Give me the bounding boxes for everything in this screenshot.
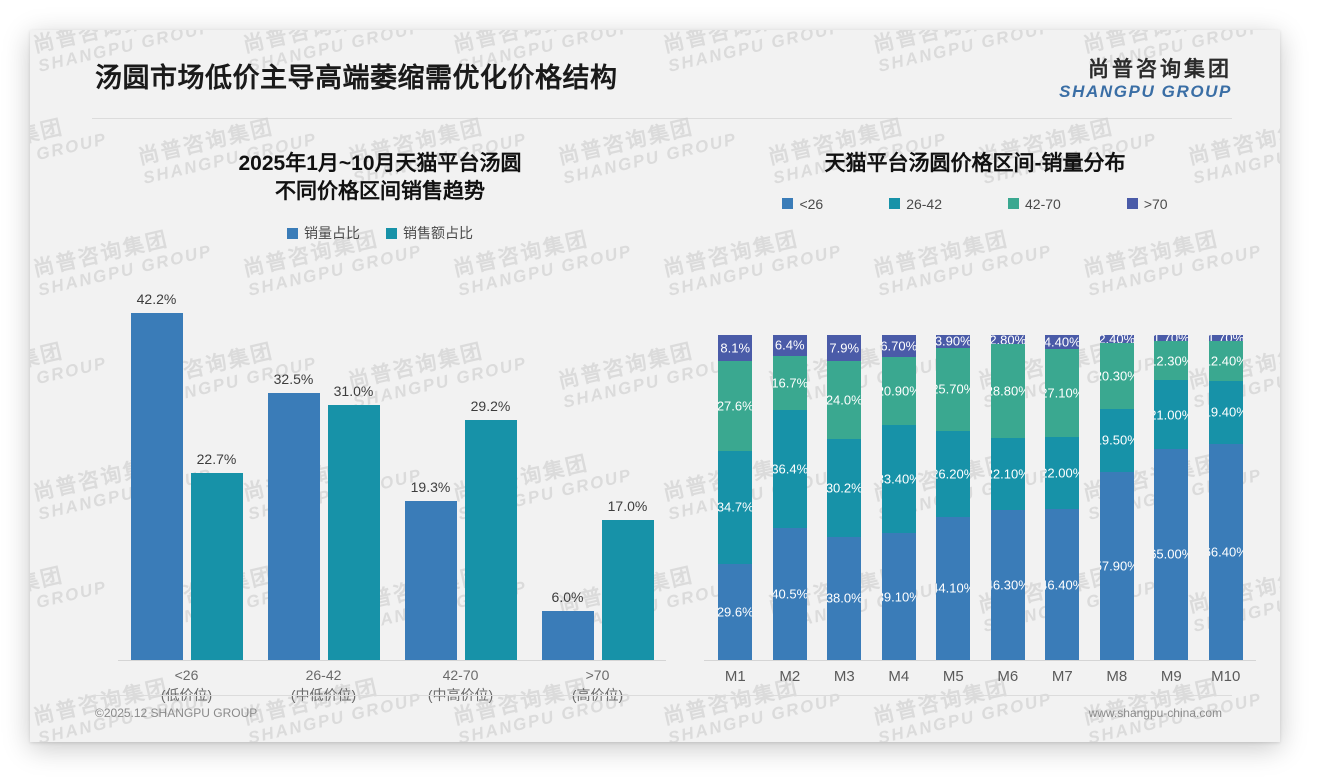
right-chart-column: 6.70%20.90%33.40%39.10% (872, 335, 927, 660)
left-chart-bar[interactable] (602, 520, 654, 660)
segment-label-clip: 44.10% (936, 517, 970, 660)
right-chart-value-label: 8.1% (720, 341, 750, 356)
right-chart-column: 7.9%24.0%30.2%38.0% (817, 335, 872, 660)
left-chart-category-label: >70(高价位) (529, 665, 666, 706)
right-chart-segment[interactable]: 38.0% (827, 537, 861, 660)
left-chart-group: 6.0%17.0% (529, 290, 666, 660)
right-chart-stack[interactable]: 2.80%28.80%22.10%46.30% (991, 335, 1025, 660)
right-chart-segment[interactable]: 19.40% (1209, 381, 1243, 444)
left-chart-title: 2025年1月~10月天猫平台汤圆 不同价格区间销售趋势 (70, 150, 690, 205)
right-chart-segment[interactable]: 2.80% (991, 335, 1025, 344)
segment-label-clip: 22.10% (991, 438, 1025, 510)
segment-label-clip: 24.0% (827, 361, 861, 439)
legend-swatch-icon (889, 198, 900, 209)
right-chart-segment[interactable]: 7.9% (827, 335, 861, 361)
right-chart-value-label: 28.80% (991, 383, 1025, 398)
page-title: 汤圆市场低价主导高端萎缩需优化价格结构 (95, 56, 618, 95)
left-chart-bar-wrapper: 19.3% (405, 290, 457, 660)
right-chart-segment[interactable]: 66.40% (1209, 444, 1243, 660)
category-range: 26-42 (306, 667, 342, 683)
right-chart-stack[interactable]: 1.70%12.30%21.00%65.00% (1154, 335, 1188, 660)
left-chart-category-label: 26-42(中低价位) (255, 665, 392, 706)
left-chart-x-axis-line (118, 660, 666, 661)
right-chart-value-label: 30.2% (827, 480, 861, 495)
segment-label-clip: 12.30% (1154, 341, 1188, 381)
segment-label-clip: 46.40% (1045, 509, 1079, 660)
right-chart-segment[interactable]: 65.00% (1154, 449, 1188, 660)
category-range: >70 (586, 667, 610, 683)
legend-swatch-icon (1127, 198, 1138, 209)
legend-label: 42-70 (1025, 196, 1061, 212)
left-chart-value-label: 6.0% (552, 589, 584, 605)
header-divider (92, 118, 1232, 119)
left-chart-value-label: 31.0% (334, 383, 374, 399)
right-chart-stack[interactable]: 7.9%24.0%30.2%38.0% (827, 335, 861, 660)
left-chart-bar-wrapper: 22.7% (191, 290, 243, 660)
right-chart-segment[interactable]: 26.20% (936, 431, 970, 516)
right-chart-segment[interactable]: 44.10% (936, 517, 970, 660)
right-chart-legend-item[interactable]: 42-70 (1008, 196, 1061, 212)
right-chart-legend-item[interactable]: 26-42 (889, 196, 942, 212)
segment-label-clip: 36.4% (773, 410, 807, 528)
right-chart-segment[interactable]: 40.5% (773, 528, 807, 660)
left-chart-bar-wrapper: 6.0% (542, 290, 594, 660)
right-chart-segment[interactable]: 30.2% (827, 439, 861, 537)
right-chart-category-label: M3 (817, 668, 872, 685)
right-chart-value-label: 25.70% (936, 382, 970, 397)
right-chart-segment[interactable]: 6.70% (882, 335, 916, 357)
segment-label-clip: 46.30% (991, 510, 1025, 660)
right-chart-column: 3.90%25.70%26.20%44.10% (926, 335, 981, 660)
right-chart-value-label: 33.40% (882, 471, 916, 486)
segment-label-clip: 21.00% (1154, 380, 1188, 448)
right-chart-stack[interactable]: 6.70%20.90%33.40%39.10% (882, 335, 916, 660)
segment-label-clip: 38.0% (827, 537, 861, 660)
footer-website: www.shangpu-china.com (1089, 706, 1222, 720)
right-chart-segment[interactable]: 28.80% (991, 344, 1025, 438)
left-chart-legend-item[interactable]: 销量占比 (287, 223, 360, 243)
right-chart-column: 6.4%16.7%36.4%40.5% (763, 335, 818, 660)
slide-header: 汤圆市场低价主导高端萎缩需优化价格结构 尚普咨询集团 SHANGPU GROUP (30, 30, 1280, 118)
right-chart-segment[interactable]: 27.6% (718, 361, 752, 451)
right-chart-value-label: 29.6% (718, 604, 752, 619)
right-chart-value-label: 27.10% (1045, 386, 1079, 401)
right-chart-segment[interactable]: 39.10% (882, 533, 916, 660)
left-chart-bar-wrapper: 42.2% (131, 290, 183, 660)
right-chart-column: 2.80%28.80%22.10%46.30% (981, 335, 1036, 660)
segment-label-clip: 30.2% (827, 439, 861, 537)
right-chart-category-label: M4 (872, 668, 927, 685)
right-chart-column: 8.1%27.6%34.7%29.6% (708, 335, 763, 660)
segment-label-clip: 39.10% (882, 533, 916, 660)
right-chart-segment[interactable]: 19.50% (1100, 409, 1134, 472)
right-chart-category-label: M1 (708, 668, 763, 685)
legend-label: <26 (799, 196, 823, 212)
segment-label-clip: 4.40% (1045, 335, 1079, 349)
segment-label-clip: 27.10% (1045, 349, 1079, 437)
right-chart-segment[interactable]: 34.7% (718, 451, 752, 564)
left-chart-bar[interactable] (465, 420, 517, 660)
segment-label-clip: 22.00% (1045, 437, 1079, 509)
left-chart-bar[interactable] (405, 501, 457, 660)
segment-label-clip: 20.30% (1100, 343, 1134, 409)
right-chart-value-label: 44.10% (936, 581, 970, 596)
right-chart-segment[interactable]: 2.40% (1100, 335, 1134, 343)
right-chart-plot-area: 8.1%27.6%34.7%29.6%6.4%16.7%36.4%40.5%7.… (708, 335, 1253, 660)
right-chart-column: 2.40%20.30%19.50%57.90% (1090, 335, 1145, 660)
right-chart-legend-item[interactable]: <26 (782, 196, 823, 212)
legend-label: >70 (1144, 196, 1168, 212)
right-chart-value-label: 7.9% (829, 340, 859, 355)
right-chart-value-label: 6.70% (882, 338, 916, 353)
segment-label-clip: 26.20% (936, 431, 970, 516)
legend-swatch-icon (386, 228, 397, 239)
right-chart-stack[interactable]: 6.4%16.7%36.4%40.5% (773, 335, 807, 660)
left-chart-bar-wrapper: 31.0% (328, 290, 380, 660)
left-chart-bar-wrapper: 17.0% (602, 290, 654, 660)
right-chart-value-label: 4.40% (1045, 335, 1079, 349)
segment-label-clip: 2.40% (1100, 335, 1134, 343)
right-chart-value-label: 24.0% (827, 392, 861, 407)
left-chart-bar[interactable] (131, 313, 183, 660)
right-chart-segment[interactable]: 25.70% (936, 348, 970, 432)
right-chart-segment[interactable]: 29.6% (718, 564, 752, 660)
right-chart-value-label: 36.4% (773, 462, 807, 477)
left-chart-panel: 2025年1月~10月天猫平台汤圆 不同价格区间销售趋势 销量占比销售额占比 4… (70, 150, 690, 720)
left-chart-bar-wrapper: 29.2% (465, 290, 517, 660)
left-chart-value-label: 32.5% (274, 371, 314, 387)
right-chart-value-label: 46.30% (991, 577, 1025, 592)
brand-logo: 尚普咨询集团 SHANGPU GROUP (1059, 58, 1232, 101)
left-chart-bar[interactable] (268, 393, 320, 660)
right-chart-legend-item[interactable]: >70 (1127, 196, 1168, 212)
right-chart-segment[interactable]: 6.4% (773, 335, 807, 356)
right-chart-value-label: 40.5% (773, 587, 807, 602)
segment-label-clip: 19.50% (1100, 409, 1134, 472)
legend-label: 销售额占比 (403, 223, 473, 243)
left-chart-group: 42.2%22.7% (118, 290, 255, 660)
right-chart-value-label: 39.10% (882, 589, 916, 604)
right-chart-segment[interactable]: 20.30% (1100, 343, 1134, 409)
left-chart-x-axis-labels: <26(低价位)26-42(中低价位)42-70(中高价位)>70(高价位) (118, 665, 666, 706)
right-chart-value-label: 2.80% (991, 335, 1025, 344)
segment-label-clip: 33.40% (882, 425, 916, 533)
right-chart-value-label: 19.40% (1209, 405, 1243, 420)
right-chart-value-label: 38.0% (827, 591, 861, 606)
right-chart-category-label: M9 (1144, 668, 1199, 685)
right-chart-stack[interactable]: 2.40%20.30%19.50%57.90% (1100, 335, 1134, 660)
right-chart-x-axis-line (704, 660, 1256, 661)
right-chart-value-label: 16.7% (773, 375, 807, 390)
category-range: 42-70 (443, 667, 479, 683)
segment-label-clip: 19.40% (1209, 381, 1243, 444)
right-chart-category-label: M8 (1090, 668, 1145, 685)
right-chart-segment[interactable]: 22.10% (991, 438, 1025, 510)
segment-label-clip: 7.9% (827, 335, 861, 361)
right-chart-segment[interactable]: 33.40% (882, 425, 916, 533)
segment-label-clip: 66.40% (1209, 444, 1243, 660)
legend-swatch-icon (287, 228, 298, 239)
legend-label: 销量占比 (304, 223, 360, 243)
right-chart-stack[interactable]: 1.70%12.40%19.40%66.40% (1209, 335, 1243, 660)
logo-chinese-text: 尚普咨询集团 (1059, 58, 1232, 82)
segment-label-clip: 6.4% (773, 335, 807, 356)
logo-english-text: SHANGPU GROUP (1059, 82, 1232, 101)
right-chart-column: 1.70%12.30%21.00%65.00% (1144, 335, 1199, 660)
segment-label-clip: 2.80% (991, 335, 1025, 344)
category-range: <26 (175, 667, 199, 683)
right-chart-segment[interactable]: 21.00% (1154, 380, 1188, 448)
right-chart-segment[interactable]: 3.90% (936, 335, 970, 348)
left-chart-bar-wrapper: 32.5% (268, 290, 320, 660)
segment-label-clip: 28.80% (991, 344, 1025, 438)
segment-label-clip: 27.6% (718, 361, 752, 451)
right-chart-stack[interactable]: 4.40%27.10%22.00%46.40% (1045, 335, 1079, 660)
right-chart-segment[interactable]: 4.40% (1045, 335, 1079, 349)
left-chart-bar[interactable] (191, 473, 243, 660)
right-chart-category-label: M6 (981, 668, 1036, 685)
segment-label-clip: 3.90% (936, 335, 970, 348)
legend-swatch-icon (1008, 198, 1019, 209)
segment-label-clip: 57.90% (1100, 472, 1134, 660)
segment-label-clip: 12.40% (1209, 341, 1243, 381)
left-chart-group: 19.3%29.2% (392, 290, 529, 660)
right-chart-category-label: M5 (926, 668, 981, 685)
right-chart-stack[interactable]: 8.1%27.6%34.7%29.6% (718, 335, 752, 660)
right-chart-value-label: 22.00% (1045, 466, 1079, 481)
right-chart-column: 4.40%27.10%22.00%46.40% (1035, 335, 1090, 660)
right-chart-value-label: 21.00% (1154, 407, 1188, 422)
right-chart-segment[interactable]: 12.40% (1209, 341, 1243, 381)
right-chart-segment[interactable]: 16.7% (773, 356, 807, 410)
right-chart-segment[interactable]: 20.90% (882, 357, 916, 425)
segment-label-clip: 20.90% (882, 357, 916, 425)
right-chart-segment[interactable]: 46.30% (991, 510, 1025, 660)
right-chart-value-label: 66.40% (1209, 544, 1243, 559)
left-chart-value-label: 29.2% (471, 398, 511, 414)
right-chart-value-label: 46.40% (1045, 577, 1079, 592)
segment-label-clip: 16.7% (773, 356, 807, 410)
right-chart-value-label: 65.00% (1154, 547, 1188, 562)
right-chart-value-label: 19.50% (1100, 433, 1134, 448)
footer-divider (92, 695, 1232, 696)
left-chart-group: 32.5%31.0% (255, 290, 392, 660)
left-chart-category-label: 42-70(中高价位) (392, 665, 529, 706)
right-chart-category-label: M2 (763, 668, 818, 685)
left-chart-value-label: 17.0% (608, 498, 648, 514)
right-chart-segment[interactable]: 27.10% (1045, 349, 1079, 437)
segment-label-clip: 40.5% (773, 528, 807, 660)
left-chart-legend: 销量占比销售额占比 (70, 223, 690, 243)
right-chart-value-label: 34.7% (718, 500, 752, 515)
segment-label-clip: 65.00% (1154, 449, 1188, 660)
right-chart-segment[interactable]: 24.0% (827, 361, 861, 439)
right-chart-legend: <2626-4242-70>70 (690, 196, 1260, 212)
legend-label: 26-42 (906, 196, 942, 212)
segment-label-clip: 8.1% (718, 335, 752, 361)
right-chart-value-label: 22.10% (991, 466, 1025, 481)
legend-swatch-icon (782, 198, 793, 209)
left-chart-value-label: 22.7% (197, 451, 237, 467)
right-chart-panel: 天猫平台汤圆价格区间-销量分布 <2626-4242-70>70 8.1%27.… (690, 150, 1260, 720)
right-chart-category-label: M10 (1199, 668, 1254, 685)
segment-label-clip: 25.70% (936, 348, 970, 432)
right-chart-value-label: 6.4% (775, 338, 805, 353)
slide-canvas: 尚普咨询集团SHANGPU GROUP尚普咨询集团SHANGPU GROUP尚普… (30, 30, 1280, 742)
right-chart-value-label: 2.40% (1100, 335, 1134, 343)
segment-label-clip: 6.70% (882, 335, 916, 357)
right-chart-value-label: 12.40% (1209, 353, 1243, 368)
right-chart-stack[interactable]: 3.90%25.70%26.20%44.10% (936, 335, 970, 660)
left-chart-bar[interactable] (328, 405, 380, 660)
right-chart-value-label: 20.90% (882, 383, 916, 398)
right-chart-value-label: 20.30% (1100, 368, 1134, 383)
right-chart-value-label: 57.90% (1100, 558, 1134, 573)
right-chart-value-label: 12.30% (1154, 353, 1188, 368)
right-chart-value-label: 26.20% (936, 466, 970, 481)
right-chart-x-axis-labels: M1M2M3M4M5M6M7M8M9M10 (708, 668, 1253, 685)
left-chart-category-label: <26(低价位) (118, 665, 255, 706)
right-chart-value-label: 27.6% (718, 399, 752, 414)
right-chart-value-label: 3.90% (936, 335, 970, 348)
left-chart-plot-area: 42.2%22.7%32.5%31.0%19.3%29.2%6.0%17.0% (118, 290, 666, 660)
right-chart-title: 天猫平台汤圆价格区间-销量分布 (690, 150, 1260, 178)
right-chart-segment[interactable]: 36.4% (773, 410, 807, 528)
right-chart-segment[interactable]: 46.40% (1045, 509, 1079, 660)
left-chart-value-label: 42.2% (137, 291, 177, 307)
footer-copyright: ©2025.12 SHANGPU GROUP (95, 706, 257, 720)
left-chart-bar[interactable] (542, 611, 594, 660)
right-chart-segment[interactable]: 57.90% (1100, 472, 1134, 660)
right-chart-segment[interactable]: 8.1% (718, 335, 752, 361)
right-chart-category-label: M7 (1035, 668, 1090, 685)
right-chart-column: 1.70%12.40%19.40%66.40% (1199, 335, 1254, 660)
left-chart-legend-item[interactable]: 销售额占比 (386, 223, 473, 243)
segment-label-clip: 29.6% (718, 564, 752, 660)
right-chart-segment[interactable]: 12.30% (1154, 341, 1188, 381)
right-chart-segment[interactable]: 22.00% (1045, 437, 1079, 509)
segment-label-clip: 34.7% (718, 451, 752, 564)
left-chart-value-label: 19.3% (411, 479, 451, 495)
